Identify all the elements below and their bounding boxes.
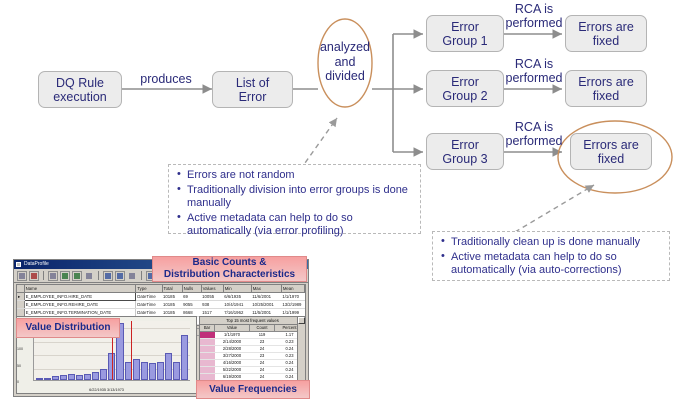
cell-count: 24 [250,367,275,374]
cell-value: 2/14/2000 [215,339,250,346]
cell-nulls: 69 [182,293,201,301]
edge-label-rca-1: RCA is performed [500,2,568,30]
sort-descending-icon[interactable] [115,271,125,281]
cell-count: 24 [250,346,275,353]
cell-max: 11/6/2001 [251,293,281,301]
back-icon[interactable] [17,271,27,281]
column-header-values[interactable]: Values [201,285,223,293]
column-header-max[interactable]: Max [251,285,281,293]
cell-name: E_EMPLOYEE_INFO.HIRE_DATE [24,293,136,301]
flow-box-label: Errors are fixed [578,20,634,48]
flow-box-errors-are-fixed-2[interactable]: Errors are fixed [565,70,647,107]
frequencies-header: Top 15 most frequent values [200,317,305,325]
flow-box-label: Errors are fixed [583,138,639,166]
annotation-basic-counts: Basic Counts & Distribution Characterist… [152,256,307,282]
row-marker [17,301,24,309]
flow-box-label: DQ Rule execution [53,76,107,104]
callout-item: Traditionally clean up is done manually [439,236,663,250]
row-marker: ▸ [17,293,24,301]
cell-nulls: 9055 [182,301,201,309]
cell-total: 10185 [162,293,182,301]
table-row[interactable]: E_EMPLOYEE_INFO.REHIRE_DATE DateTime 101… [17,301,305,309]
cell-bar [200,367,215,374]
chart-x-axis-label: 6/22/1935 3/13/1973 [17,388,196,392]
toolbar-separator [98,271,99,280]
profile-run-icon[interactable] [60,271,70,281]
cell-count: 24 [250,360,275,367]
callout-item: Errors are not random [175,169,414,183]
cell-total: 10185 [162,301,182,309]
cell-values: 938 [201,301,223,309]
refresh-icon[interactable] [72,271,82,281]
table-row[interactable]: 1/1/1970 119 1.17 [200,332,305,339]
cell-value: 4/16/2000 [215,360,250,367]
flow-box-label: Error Group 3 [442,138,487,166]
scroll-up-button[interactable] [298,317,305,324]
cell-count: 23 [250,339,275,346]
flow-box-error-group-2[interactable]: Error Group 2 [426,70,504,107]
leader-grouping-callout [300,118,337,170]
flow-box-error-group-1[interactable]: Error Group 1 [426,15,504,52]
column-header-total[interactable]: Total [162,285,182,293]
window-title: DataProfile [24,261,49,267]
filter-icon[interactable] [127,271,137,281]
table-row[interactable]: 4/16/2000 24 0.24 [200,360,305,367]
annotation-value-frequencies: Value Frequencies [196,380,310,399]
callout-list: Traditionally clean up is done manually … [439,236,663,278]
cell-bar [200,332,215,339]
table-row[interactable]: ▸ E_EMPLOYEE_INFO.HIRE_DATE DateTime 101… [17,293,305,301]
open-folder-icon[interactable] [48,271,58,281]
edge-label-produces: produces [130,72,202,86]
toolbar-separator [43,271,44,280]
toolbar-separator [141,271,142,280]
cell-bar [200,346,215,353]
cell-value: 1/1/1970 [215,332,250,339]
cell-value: 3/27/2000 [215,353,250,360]
flow-box-label: Error Group 1 [442,20,487,48]
edge-label-rca-2: RCA is performed [500,57,568,85]
table-row[interactable]: 3/27/2000 23 0.23 [200,353,305,360]
flow-box-label: List of Error [236,76,269,104]
flow-box-dq-rule-execution[interactable]: DQ Rule execution [38,71,122,108]
ellipse-label-analyzed-and-divided: analyzed and divided [310,40,380,84]
table-row[interactable]: 2/14/2000 23 0.23 [200,339,305,346]
table-row[interactable]: 2/28/2000 24 0.24 [200,346,305,353]
annotation-value-distribution: Value Distribution [16,318,120,338]
diagram-canvas: DQ Rule execution List of Error Error Gr… [0,0,676,400]
flow-box-label: Errors are fixed [578,75,634,103]
callout-item: Traditionally division into error groups… [175,184,414,211]
callout-item: Active metadata can help to do so automa… [175,212,414,239]
cell-min: 6/6/1935 [223,293,251,301]
chart-ytick-0: 0 [17,380,19,384]
callout-error-grouping: Errors are not random Traditionally divi… [168,164,421,234]
sort-ascending-icon[interactable] [103,271,113,281]
cell-bar [200,353,215,360]
edge-label-rca-3: RCA is performed [500,120,568,148]
leader-cleanup-callout [515,185,594,232]
flow-box-list-of-error[interactable]: List of Error [212,71,293,108]
cell-max: 10/25/2001 [251,301,281,309]
cell-value: 5/22/2000 [215,367,250,374]
cell-count: 23 [250,353,275,360]
cell-count: 119 [250,332,275,339]
cell-mean: 1/1/1970 [281,293,304,301]
stop-icon[interactable] [84,271,94,281]
table-row[interactable]: 5/22/2000 24 0.24 [200,367,305,374]
row-marker-header [17,285,24,293]
flow-box-errors-are-fixed-1[interactable]: Errors are fixed [565,15,647,52]
column-header-name[interactable]: Name [24,285,136,293]
cell-type: DateTime [136,293,162,301]
flow-box-label: Error Group 2 [442,75,487,103]
cell-values: 10055 [201,293,223,301]
app-icon [16,262,21,267]
callout-list: Errors are not random Traditionally divi… [175,169,414,239]
chart-ytick-50: 50 [17,364,21,368]
cell-value: 2/28/2000 [215,346,250,353]
callout-cleanup: Traditionally clean up is done manually … [432,231,670,281]
cell-name: E_EMPLOYEE_INFO.REHIRE_DATE [24,301,136,309]
chart-ytick-100: 100 [17,347,23,351]
table-header-row: Name Type Total Nulls Values Min Max Mea… [17,285,305,293]
chart-marker-right [131,321,132,380]
cell-type: DateTime [136,301,162,309]
column-header-nulls[interactable]: Nulls [182,285,201,293]
cell-mean: 13/2/1989 [281,301,304,309]
flow-box-errors-are-fixed-3[interactable]: Errors are fixed [570,133,652,170]
cell-bar [200,360,215,367]
cell-bar [200,339,215,346]
column-header-mean[interactable]: Mean [281,285,304,293]
column-header-min[interactable]: Min [223,285,251,293]
forward-icon[interactable] [29,271,39,281]
cell-min: 10/4/1941 [223,301,251,309]
callout-item: Active metadata can help to do so automa… [439,251,663,278]
column-header-type[interactable]: Type [136,285,162,293]
flow-box-error-group-3[interactable]: Error Group 3 [426,133,504,170]
